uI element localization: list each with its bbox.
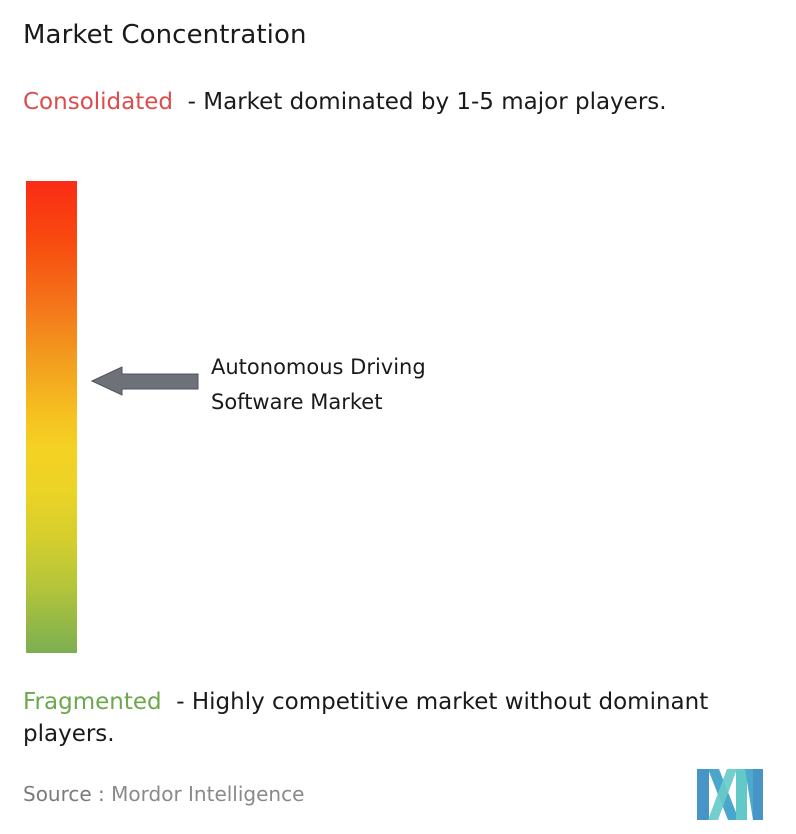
arrow-left-icon: [91, 366, 199, 396]
fragmented-separator: -: [162, 689, 192, 715]
market-concentration-infographic: Market Concentration Consolidated - Mark…: [0, 0, 796, 834]
page-title: Market Concentration: [23, 20, 307, 50]
callout-label-line2: Software Market: [211, 385, 426, 420]
consolidated-separator: -: [173, 89, 203, 115]
source-attribution: Source : Mordor Intelligence: [23, 782, 304, 806]
callout-label: Autonomous Driving Software Market: [211, 350, 426, 420]
mordor-intelligence-logo: [697, 769, 763, 820]
source-label: Source :: [23, 782, 105, 806]
consolidated-keyword: Consolidated: [23, 89, 173, 115]
fragmented-description: Fragmented - Highly competitive market w…: [23, 686, 785, 750]
source-value: Mordor Intelligence: [111, 782, 304, 806]
consolidated-description: Consolidated - Market dominated by 1-5 m…: [23, 86, 763, 118]
market-concentration-gradient-bar: [26, 181, 77, 653]
callout-label-line1: Autonomous Driving: [211, 350, 426, 385]
consolidated-text: Market dominated by 1-5 major players.: [203, 89, 666, 115]
fragmented-keyword: Fragmented: [23, 689, 162, 715]
